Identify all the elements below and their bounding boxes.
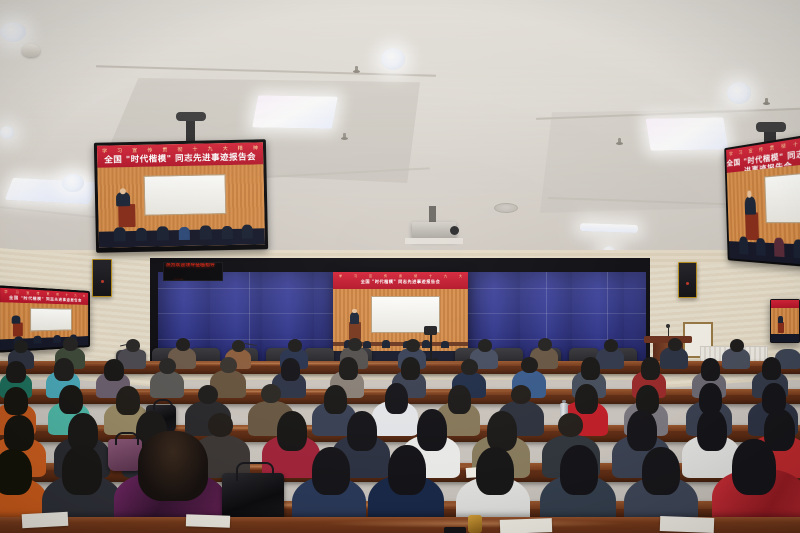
ceiling-downlight bbox=[62, 174, 84, 192]
sprinkler-head bbox=[353, 66, 360, 75]
tv-mount-plate-left bbox=[176, 112, 206, 121]
video-camera bbox=[424, 326, 437, 335]
led-scrolling-sign: 热烈欢迎领导莅临指导 欢迎 bbox=[163, 262, 223, 281]
audience-seating bbox=[0, 345, 800, 533]
attendee-hair bbox=[476, 447, 514, 495]
attendee-hair bbox=[4, 415, 34, 451]
attendee-hair bbox=[401, 357, 420, 380]
paper-document bbox=[660, 516, 714, 533]
left-wall-tv: 学习宣传贯彻十九大精神 全国 "时代楷模" 同志先进事迹报告会 bbox=[94, 139, 268, 253]
ceiling-downlight bbox=[381, 48, 405, 70]
attendee-hair bbox=[487, 411, 517, 451]
attendee-hair bbox=[641, 357, 660, 380]
smoke-detector bbox=[22, 44, 40, 57]
attendee-hair bbox=[762, 357, 781, 380]
attendee-hair bbox=[560, 445, 598, 495]
attendee-head bbox=[538, 338, 552, 351]
attendee-head bbox=[159, 358, 176, 374]
attendee-hair bbox=[417, 409, 447, 451]
attendee-hair bbox=[6, 361, 26, 383]
attendee-hair bbox=[701, 358, 720, 381]
attendee-hair bbox=[277, 411, 307, 451]
attendee-head bbox=[63, 337, 78, 351]
attendee-hair bbox=[388, 445, 426, 495]
ceiling-panel-light bbox=[646, 117, 729, 150]
handbag bbox=[108, 439, 142, 471]
attendee-hair bbox=[116, 386, 140, 415]
attendee-head bbox=[126, 339, 140, 352]
attendee-hair bbox=[385, 383, 408, 414]
far-right-tv bbox=[770, 299, 800, 343]
sprinkler-head bbox=[616, 138, 623, 147]
attendee-head bbox=[511, 385, 531, 404]
ceiling-vent bbox=[494, 203, 518, 213]
attendee-head bbox=[14, 340, 28, 353]
conference-hall-photo: 热烈欢迎领导莅临指导 欢迎 学习宣传贯彻十九大 全国 "时代楷模" 同志先进事迹… bbox=[0, 0, 800, 533]
mobile-phone bbox=[444, 527, 466, 533]
attendee-head bbox=[176, 338, 190, 351]
ceiling-panel-light bbox=[252, 95, 338, 128]
attendee-hair bbox=[347, 411, 377, 451]
attendee-head bbox=[730, 339, 744, 352]
live-feed-right-tv: 学习宣传贯彻十九 全国 "时代楷模" 同志先进事迹报告会 bbox=[726, 136, 800, 266]
attendee-hair bbox=[62, 445, 102, 495]
attendee-hair bbox=[104, 359, 124, 381]
attendee-hair-foreground bbox=[138, 431, 208, 501]
feed-banner-text: 全国 "时代楷模" 同志先进事迹报告会 bbox=[333, 279, 468, 285]
ceiling-downlight bbox=[0, 22, 26, 42]
attendee-head bbox=[220, 357, 237, 373]
sprinkler-head bbox=[341, 133, 348, 142]
attendee-head bbox=[348, 338, 362, 351]
paper-document bbox=[186, 514, 230, 528]
attendee-hair bbox=[281, 358, 300, 381]
attendee-head bbox=[461, 359, 478, 375]
tv-mount-arm-left bbox=[186, 118, 195, 142]
attendee-hair bbox=[627, 410, 657, 451]
attendee-hair bbox=[4, 387, 28, 415]
attendee-hair bbox=[581, 357, 600, 380]
paper-document bbox=[500, 518, 552, 533]
projector-base-plate bbox=[405, 238, 463, 244]
attendee-hair bbox=[312, 447, 350, 495]
live-feed-far-right-tv bbox=[771, 300, 799, 342]
ceiling-downlight bbox=[727, 82, 751, 104]
attendee-head bbox=[521, 357, 538, 373]
live-feed-left-tv: 学习宣传贯彻十九大精神 全国 "时代楷模" 同志先进事迹报告会 bbox=[97, 142, 265, 247]
attendee-hair bbox=[339, 357, 358, 380]
attendee-hair bbox=[0, 449, 32, 495]
projector-lens bbox=[450, 226, 459, 235]
attendee-head bbox=[208, 413, 233, 437]
attendee-head bbox=[478, 339, 492, 352]
attendee-hair bbox=[697, 409, 727, 451]
attendee-head bbox=[232, 340, 245, 352]
notebook bbox=[22, 512, 69, 528]
attendee-head bbox=[604, 339, 618, 352]
attendee-hair bbox=[642, 447, 680, 495]
attendee-hair-foreground bbox=[732, 439, 776, 495]
wall-speaker-left bbox=[92, 259, 112, 297]
attendee-head bbox=[261, 384, 281, 403]
led-sign-line-1: 热烈欢迎领导莅临指导 bbox=[164, 263, 222, 269]
attendee-body bbox=[150, 371, 184, 398]
keychain-ornament bbox=[468, 515, 482, 533]
attendee-hair bbox=[448, 385, 471, 414]
attendee-hair bbox=[575, 384, 598, 414]
attendee-hair bbox=[54, 358, 74, 381]
attendee-head bbox=[668, 338, 682, 351]
attendee-hair bbox=[324, 385, 347, 414]
attendee-head bbox=[406, 339, 420, 352]
attendee-head bbox=[558, 413, 583, 437]
attendee-head bbox=[198, 385, 218, 404]
attendee-hair bbox=[59, 385, 83, 414]
attendee-head bbox=[288, 339, 302, 352]
tv-mount-plate-right bbox=[756, 122, 786, 132]
sprinkler-head bbox=[763, 98, 770, 107]
right-wall-tv: 学习宣传贯彻十九 全国 "时代楷模" 同志先进事迹报告会 bbox=[724, 133, 800, 268]
wall-speaker-right bbox=[678, 262, 697, 298]
ceiling-downlight bbox=[0, 126, 14, 139]
